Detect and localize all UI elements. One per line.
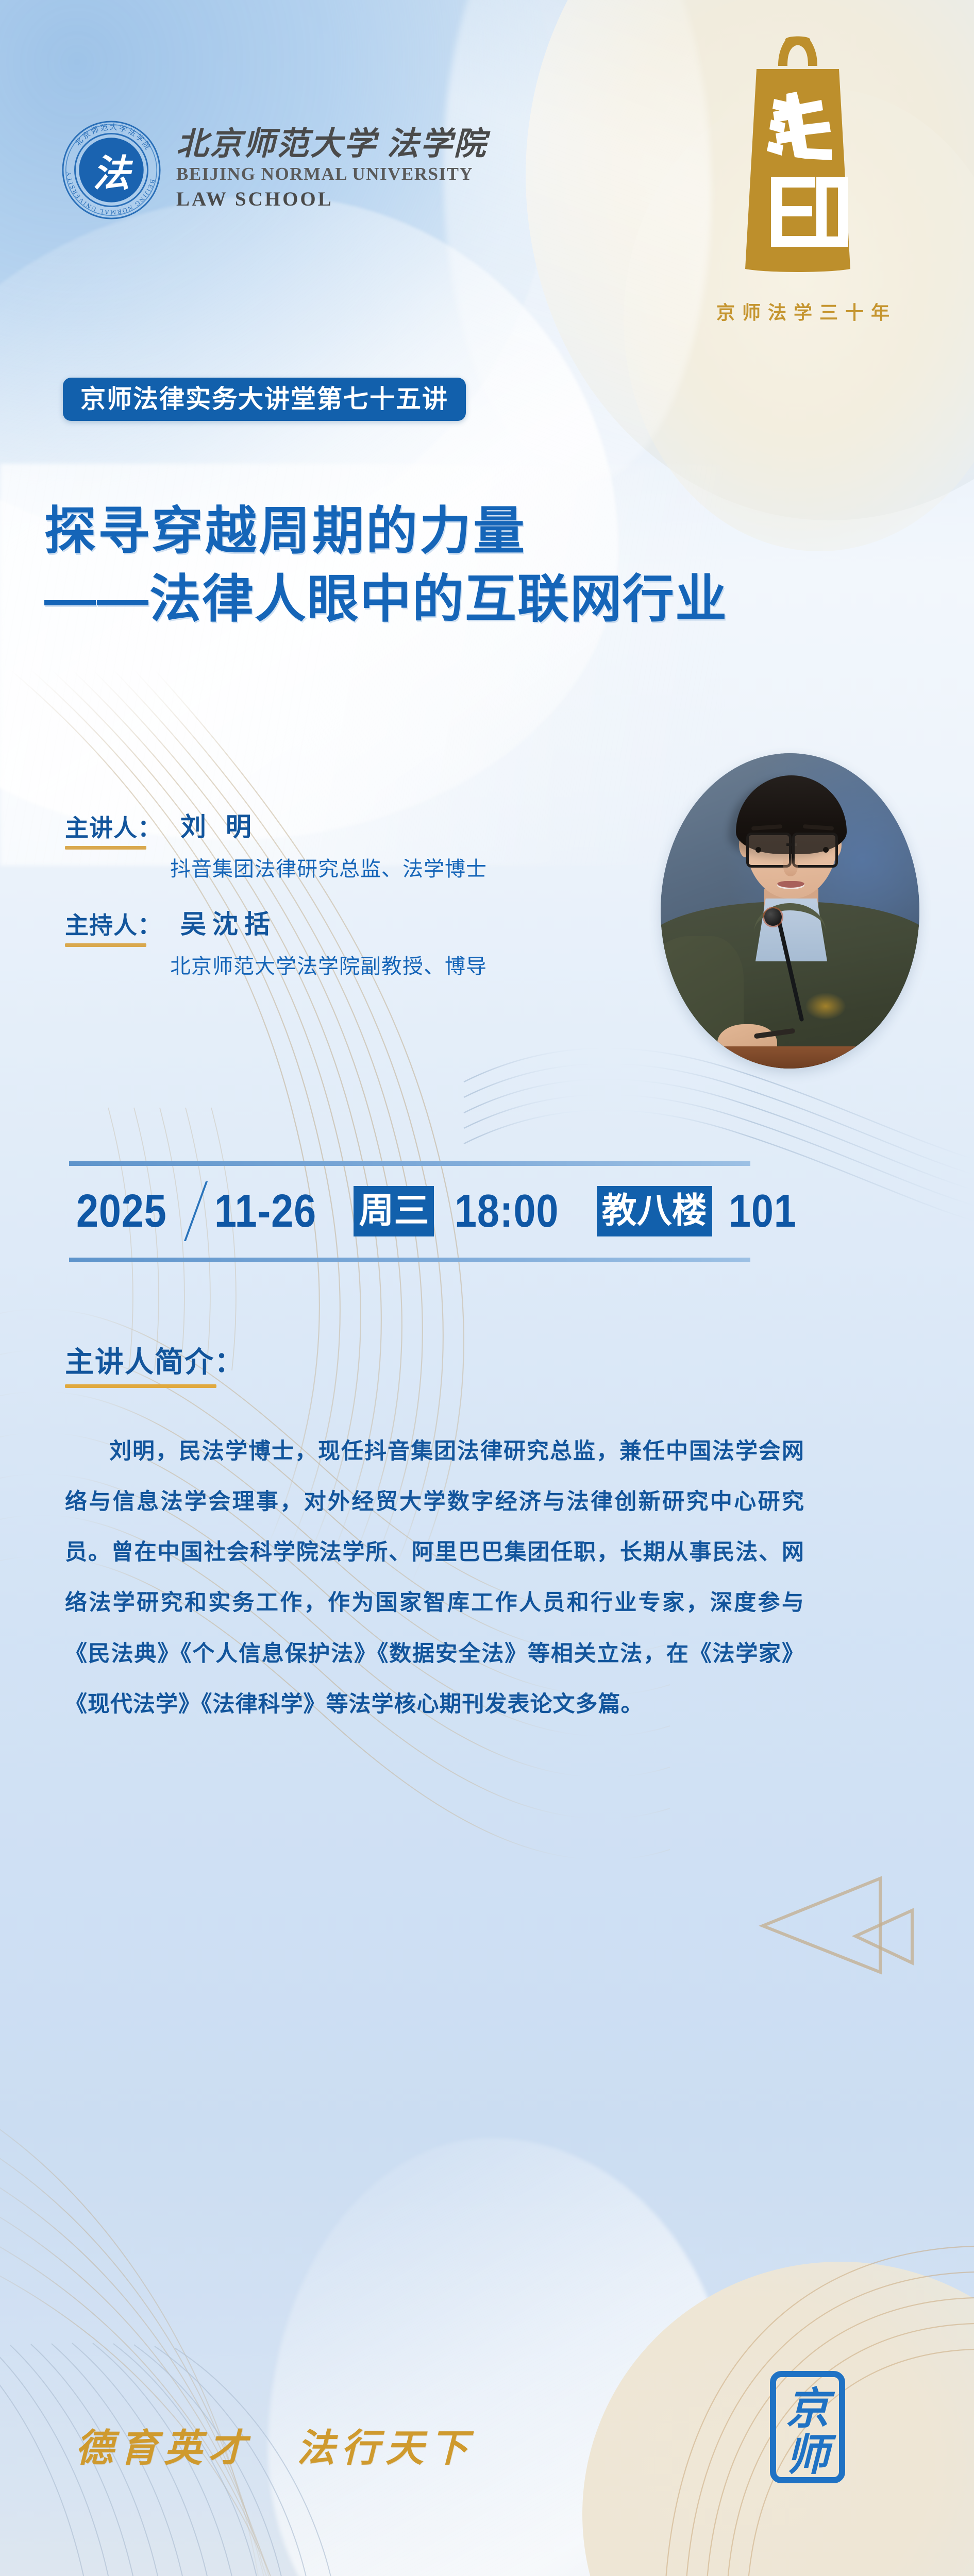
event-year: 2025 [76, 1188, 167, 1234]
portrait-desk [692, 1046, 899, 1069]
event-details-bar: 2025 11-26 周三 18:00 教八楼 101 [69, 1161, 750, 1262]
university-logo-text: 北京师范大学 法学院 BEIJING NORMAL UNIVERSITY LAW… [176, 128, 488, 212]
logo-name-en-line1: BEIJING NORMAL UNIVERSITY [176, 162, 488, 186]
portrait-sweater-emblem [805, 993, 846, 1020]
anniversary-bell-emblem-icon [726, 32, 870, 279]
anniversary-caption: 京师法学三十年 [695, 298, 911, 325]
jingshi-seal-icon: 京 师 [769, 2370, 846, 2484]
footer-motto-part-1: 德育英才 [75, 2430, 253, 2468]
host-affiliation: 北京师范大学法学院副教授、博导 [170, 953, 632, 980]
event-time: 18:00 [455, 1188, 559, 1234]
speaker-name: 刘 明 [180, 813, 258, 841]
event-weekday-chip: 周三 [354, 1186, 434, 1236]
title-line-2: ——法律人眼中的互联网行业 [44, 565, 941, 633]
event-bar-content: 2025 11-26 周三 18:00 教八楼 101 [76, 1177, 808, 1246]
speaker-role-label: 主讲人： [65, 815, 162, 841]
host-role-underline [65, 943, 146, 947]
title-line-1: 探寻穿越周期的力量 [44, 497, 941, 565]
poster-root: 北京师范大学法学院 BEIJING NORMAL UNIVERSITY LAW … [0, 0, 974, 2576]
svg-text:法: 法 [93, 152, 133, 194]
event-room: 101 [729, 1188, 797, 1234]
host-role-label: 主持人： [65, 912, 162, 939]
poster-header: 北京师范大学法学院 BEIJING NORMAL UNIVERSITY LAW … [0, 0, 974, 340]
speaker-entry-host: 主持人： 吴沈括 北京师范大学法学院副教授、博导 [65, 910, 632, 980]
lecture-series-badge-label: 京师法律实务大讲堂第七十五讲 [80, 387, 448, 412]
portrait-nose [783, 857, 798, 876]
logo-name-en-line2: LAW SCHOOL [176, 187, 488, 212]
event-bar-rule-bottom [69, 1258, 750, 1262]
portrait-lens-right [792, 833, 837, 868]
portrait-mouth [777, 881, 804, 889]
event-building-chip: 教八楼 [597, 1186, 712, 1236]
speaker-list: 主讲人： 刘 明 抖音集团法律研究总监、法学博士 主持人： 吴沈括 北京师范大学… [65, 813, 632, 1008]
lecture-series-badge: 京师法律实务大讲堂第七十五讲 [63, 378, 466, 421]
bio-heading-underline [65, 1384, 216, 1388]
logo-name-cn: 北京师范大学 法学院 [176, 128, 488, 161]
portrait-pupil-left [755, 847, 761, 853]
speaker-role-underline [65, 846, 146, 850]
footer-motto-part-2: 法行天下 [297, 2430, 474, 2468]
speaker-affiliation: 抖音集团法律研究总监、法学博士 [170, 856, 632, 883]
svg-text:京: 京 [786, 2385, 835, 2433]
law-school-seal-icon: 北京师范大学法学院 BEIJING NORMAL UNIVERSITY LAW … [61, 120, 162, 221]
portrait-pupil-right [823, 847, 829, 853]
portrait-microphone-head [764, 908, 782, 926]
bio-heading: 主讲人简介： [65, 1346, 244, 1379]
svg-text:师: 师 [786, 2432, 836, 2480]
page-title: 探寻穿越周期的力量 ——法律人眼中的互联网行业 [44, 497, 941, 633]
speaker-bio-section: 主讲人简介： 刘明，民法学博士，现任抖音集团法律研究总监，兼任中国法学会网络与信… [65, 1346, 869, 1730]
host-name: 吴沈括 [180, 910, 276, 939]
event-slash-separator [184, 1181, 208, 1241]
speaker-entry-lecturer: 主讲人： 刘 明 抖音集团法律研究总监、法学博士 [65, 813, 632, 883]
event-date: 11-26 [214, 1188, 316, 1234]
university-logo-lockup: 北京师范大学法学院 BEIJING NORMAL UNIVERSITY LAW … [61, 120, 488, 221]
footer-motto: 德育英才 法行天下 [75, 2430, 474, 2468]
event-bar-rule-top [69, 1161, 750, 1166]
speaker-portrait-photo [661, 753, 919, 1069]
bio-paragraph: 刘明，民法学博士，现任抖音集团法律研究总监，兼任中国法学会网络与信息法学会理事，… [65, 1426, 804, 1729]
